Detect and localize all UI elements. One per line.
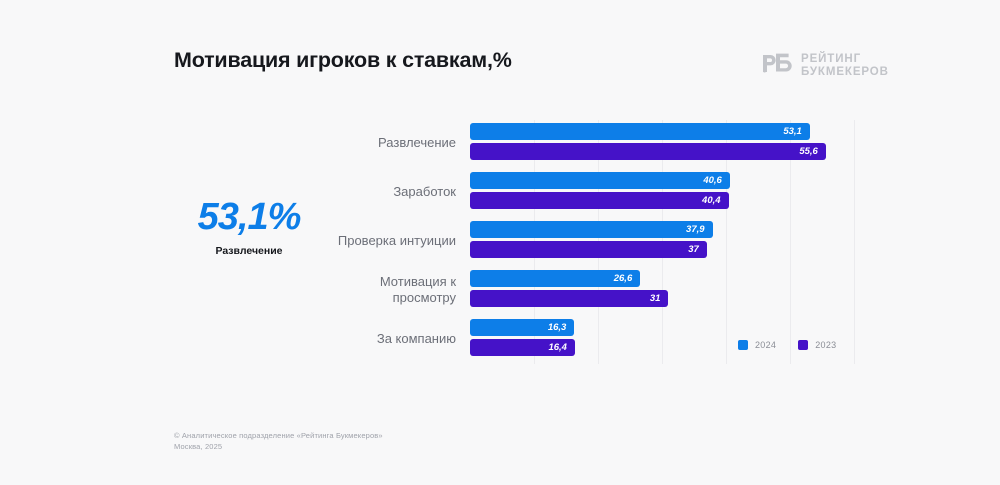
bar-2024: 16,3 [470,319,574,336]
legend-label: 2024 [755,340,776,350]
rb-monogram-icon [762,52,792,79]
brand-line-1: РЕЙТИНГ [801,53,889,65]
bar-value-label: 40,4 [702,195,721,206]
legend-item-2023[interactable]: 2023 [798,340,836,350]
bar-value-label: 53,1 [783,126,802,137]
bar-value-label: 16,3 [548,322,567,333]
category-label-line: Заработок [393,184,456,199]
bar-value-label: 26,6 [614,273,633,284]
footer-credit: © Аналитическое подразделение «Рейтинга … [174,430,383,453]
bar-pair: 40,640,4 [470,172,730,212]
category-label: За компанию [196,316,456,361]
footer-line-1: © Аналитическое подразделение «Рейтинга … [174,430,383,441]
chart-plot-area: Развлечение53,155,6Заработок40,640,4Пров… [0,120,1000,370]
bar-pair: 26,631 [470,270,668,310]
category-label: Развлечение [196,120,456,165]
bar-value-label: 37 [688,244,699,255]
page-title: Мотивация игроков к ставкам,% [174,48,512,73]
bar-pair: 53,155,6 [470,123,826,163]
chart-legend: 20242023 [738,340,836,350]
legend-swatch-icon [798,340,808,350]
category-label-line: За компанию [377,331,456,346]
bar-value-label: 40,6 [703,175,722,186]
bar-value-label: 16,4 [548,342,567,353]
bar-2024: 53,1 [470,123,810,140]
category-label-line: Развлечение [378,135,456,150]
brand-wordmark: РЕЙТИНГ БУКМЕКЕРОВ [801,53,889,78]
bar-2024: 26,6 [470,270,640,287]
category-label-line: Проверка интуиции [338,233,456,248]
category-label: Мотивация кпросмотру [196,267,456,312]
category-label: Проверка интуиции [196,218,456,263]
bar-group: За компанию16,316,4 [0,316,1000,361]
bar-2023: 37 [470,241,707,258]
brand-logo: РЕЙТИНГ БУКМЕКЕРОВ [762,52,889,79]
bar-2024: 40,6 [470,172,730,189]
bar-pair: 37,937 [470,221,713,261]
bar-group: Мотивация кпросмотру26,631 [0,267,1000,312]
bar-2023: 55,6 [470,143,826,160]
category-label: Заработок [196,169,456,214]
bar-2024: 37,9 [470,221,713,238]
bar-2023: 31 [470,290,668,307]
category-label-line: Мотивация к [380,274,456,289]
bar-group: Заработок40,640,4 [0,169,1000,214]
footer-line-2: Москва, 2025 [174,441,383,452]
bar-pair: 16,316,4 [470,319,575,359]
bar-2023: 40,4 [470,192,729,209]
legend-swatch-icon [738,340,748,350]
legend-item-2024[interactable]: 2024 [738,340,776,350]
category-label-line: просмотру [393,290,456,305]
bar-groups: Развлечение53,155,6Заработок40,640,4Пров… [0,120,1000,365]
legend-label: 2023 [815,340,836,350]
bar-value-label: 31 [650,293,661,304]
bar-group: Проверка интуиции37,937 [0,218,1000,263]
bar-value-label: 37,9 [686,224,705,235]
bar-value-label: 55,6 [799,146,818,157]
bar-2023: 16,4 [470,339,575,356]
infographic-canvas: Мотивация игроков к ставкам,% РЕЙТИНГ БУ… [0,0,1000,485]
bar-group: Развлечение53,155,6 [0,120,1000,165]
brand-line-2: БУКМЕКЕРОВ [801,66,889,78]
